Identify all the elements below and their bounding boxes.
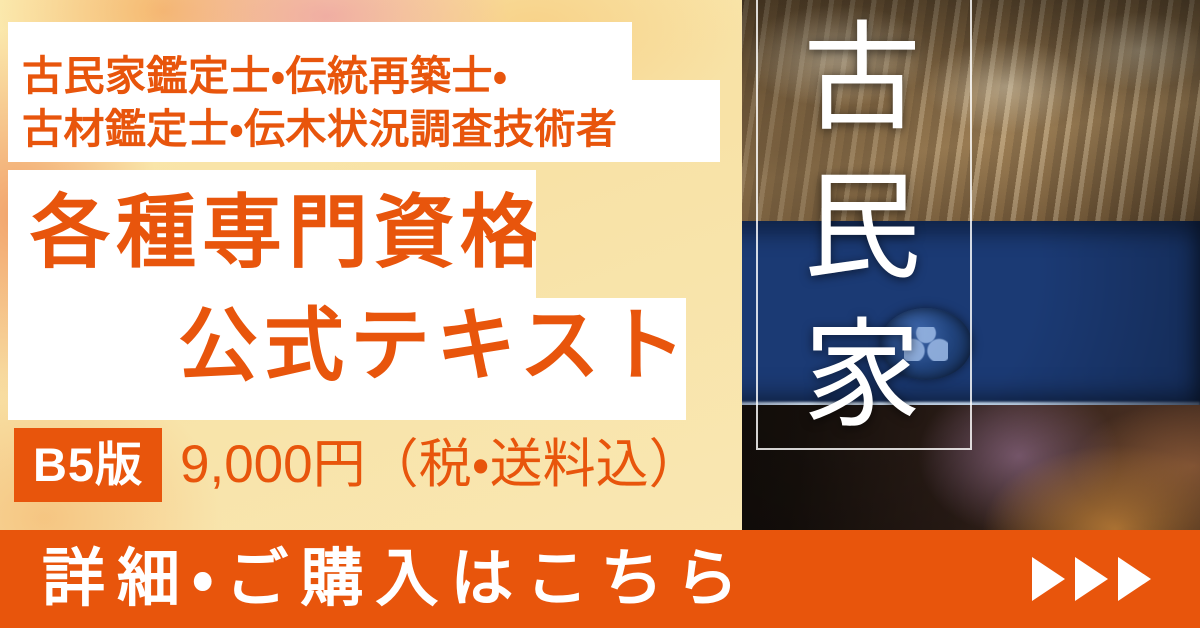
price-row: B5版 9,000円（税・送料込） <box>14 428 694 508</box>
cover-title-char-1: 古 <box>776 6 948 155</box>
cta-label[interactable]: 詳細・ご購入はこちら <box>42 530 750 628</box>
cover-title-char-3: 家 <box>776 303 948 452</box>
cta-bar[interactable]: 詳細・ご購入はこちら <box>0 530 1200 628</box>
qualifications-line-1: 古民家鑑定士・伝統再築士・ <box>22 50 722 103</box>
qualifications-panel: 古民家鑑定士・伝統再築士・ 古材鑑定士・伝木状況調査技術者 <box>8 22 720 162</box>
cover-title-char-2: 民 <box>776 155 948 304</box>
qualifications-text: 古民家鑑定士・伝統再築士・ 古材鑑定士・伝木状況調査技術者 <box>22 50 722 157</box>
headline-line-2: 公式テキスト <box>178 305 692 387</box>
chevron-right-icon-1 <box>1032 557 1065 601</box>
price-amount: 9,000円（税・送料込） <box>180 426 702 504</box>
qualifications-line-2: 古材鑑定士・伝木状況調査技術者 <box>22 103 722 156</box>
chevron-right-icon-3 <box>1118 557 1151 601</box>
size-badge: B5版 <box>14 428 162 502</box>
promotional-banner: 古 民 家 伝統構法 古民家活用のための調査と再生の 古民家鑑定士・伝統再築士・… <box>0 0 1200 628</box>
chevron-right-icon-2 <box>1075 557 1108 601</box>
cta-arrows[interactable] <box>1032 530 1151 628</box>
headline-line-1: 各種専門資格 <box>30 192 546 274</box>
cover-title-vertical: 古 民 家 <box>776 6 948 452</box>
